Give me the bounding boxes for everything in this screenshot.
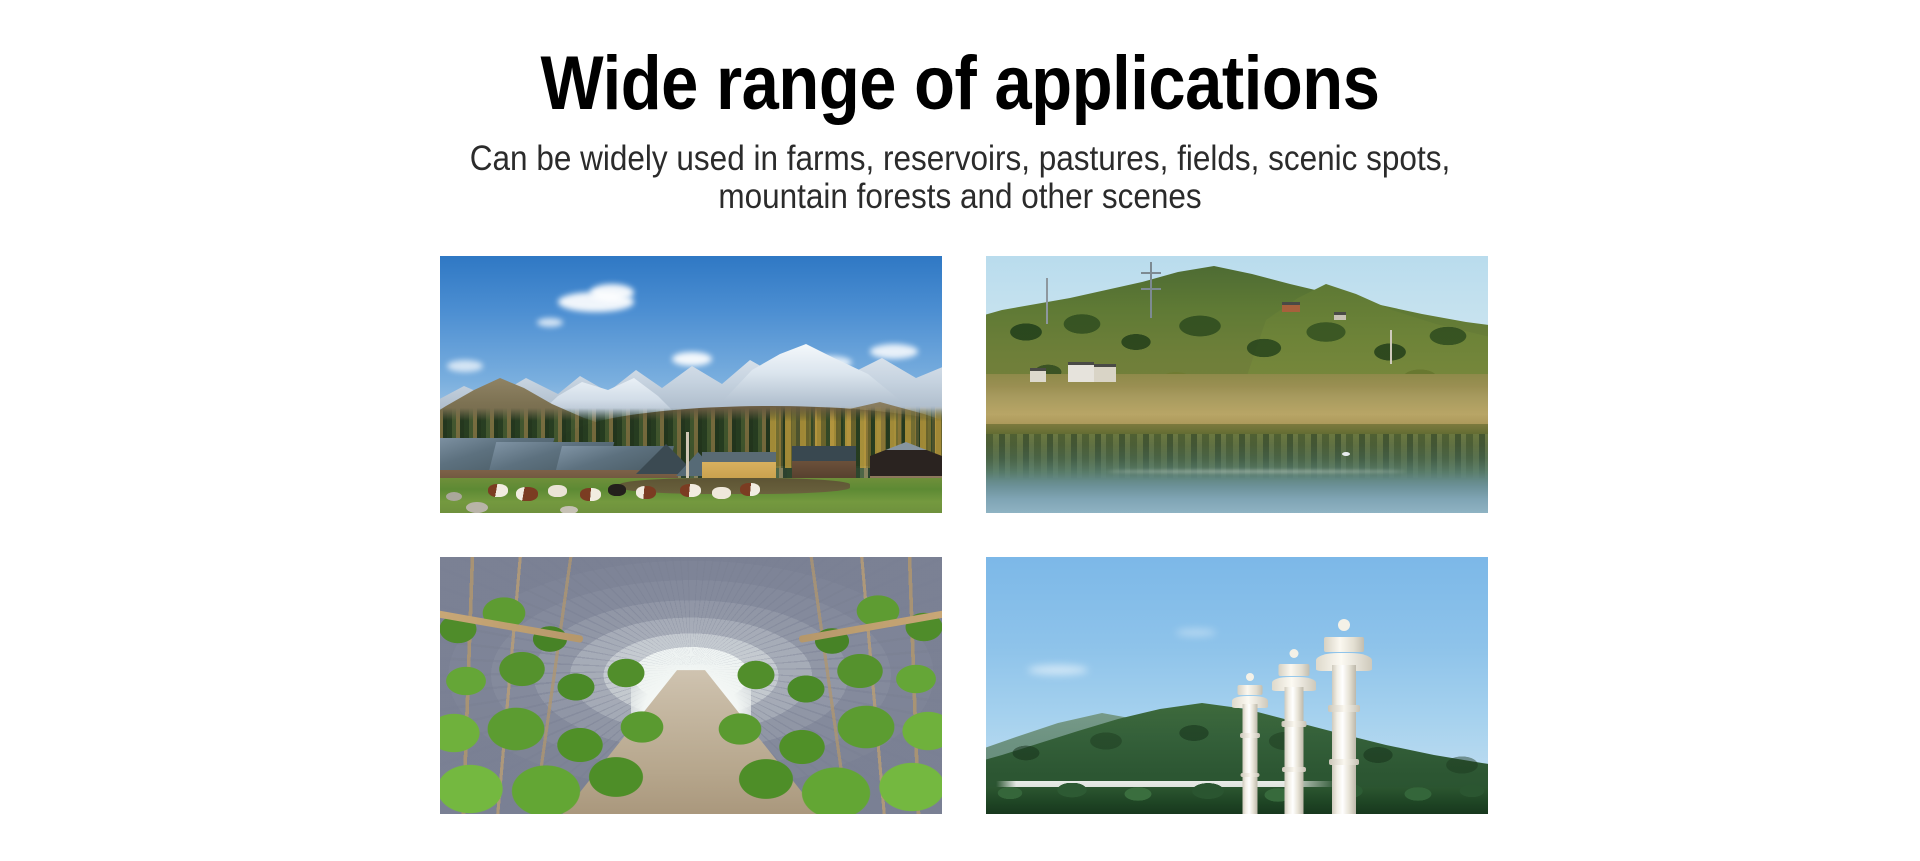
rock	[446, 492, 462, 501]
cow	[680, 484, 701, 497]
reservoir-hillside-scene	[986, 256, 1488, 513]
pillar-ring	[1240, 733, 1260, 738]
rock	[466, 502, 488, 513]
cow	[636, 486, 656, 499]
utility-pole	[1046, 278, 1048, 324]
cloud-shape	[1176, 629, 1216, 636]
terraced-bank	[986, 374, 1488, 430]
pasture-village-scene	[440, 256, 942, 513]
pillar-finial	[1246, 673, 1254, 681]
rock	[560, 506, 578, 513]
water-reflection	[986, 434, 1488, 480]
cloud-shape	[537, 318, 563, 327]
stone-pillar-front	[1316, 619, 1372, 814]
pillar-cap	[1324, 637, 1364, 652]
pillar-ring	[1282, 721, 1307, 727]
power-pylon	[1150, 262, 1152, 318]
hilltop-building	[1282, 302, 1300, 312]
cow	[488, 484, 508, 497]
pillar-finial	[1338, 619, 1350, 631]
cow	[608, 484, 626, 496]
hillside-building	[1094, 364, 1116, 382]
photo-pasture-village	[440, 256, 942, 513]
stone-pillar-back	[1232, 673, 1268, 814]
photo-stone-pillars	[986, 557, 1488, 814]
photo-greenhouse-rows	[440, 557, 942, 814]
application-photo-gallery	[440, 256, 1488, 814]
page-subtitle-line-2: mountain forests and other scenes	[96, 178, 1824, 216]
heading-block: Wide range of applications Can be widely…	[0, 38, 1920, 216]
application-showcase-page: Wide range of applications Can be widely…	[0, 0, 1920, 861]
cow	[516, 487, 538, 501]
photo-reservoir-hillside	[986, 256, 1488, 513]
hilltop-building	[1334, 312, 1346, 320]
page-title: Wide range of applications	[115, 38, 1805, 130]
cloud-shape	[590, 284, 634, 301]
hillside-building	[1068, 362, 1094, 382]
stone-pillars-scene	[986, 557, 1488, 814]
utility-pole	[1390, 330, 1392, 364]
pillar-shaft	[1285, 687, 1304, 814]
pillar-cap	[1238, 685, 1263, 695]
pillar-ring	[1328, 705, 1360, 712]
pillar-ring	[1241, 773, 1260, 777]
cow	[548, 485, 567, 497]
stone-pillar-middle	[1272, 649, 1316, 814]
cloud-shape	[870, 344, 918, 359]
crop-row-left	[440, 577, 700, 814]
small-boat	[1342, 452, 1350, 456]
water-glint	[1106, 470, 1406, 473]
cloud-shape	[672, 352, 712, 366]
pillar-shaft	[1243, 704, 1258, 814]
page-subtitle-line-1: Can be widely used in farms, reservoirs,…	[96, 140, 1824, 178]
pillar-ring	[1282, 767, 1306, 772]
cow	[580, 488, 601, 501]
cloud-shape	[1028, 665, 1088, 675]
pillar-shaft	[1332, 665, 1356, 814]
pillar-cap	[1279, 664, 1310, 676]
page-subtitle: Can be widely used in farms, reservoirs,…	[96, 140, 1824, 216]
cloud-shape	[447, 360, 483, 372]
cow	[712, 487, 731, 499]
pillar-ring	[1329, 759, 1359, 765]
greenhouse-scene	[440, 557, 942, 814]
hillside-building	[1030, 368, 1046, 382]
crop-row-right	[682, 577, 942, 814]
pillar-finial	[1290, 649, 1299, 658]
cow	[740, 483, 760, 496]
